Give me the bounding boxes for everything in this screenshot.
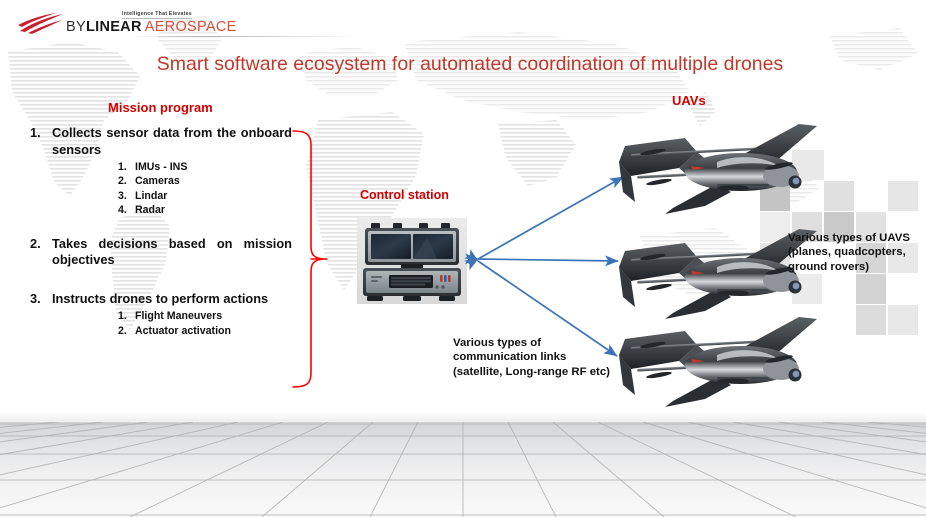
- sub-item-label: Cameras: [135, 174, 180, 188]
- sub-item-number: 1.: [118, 309, 135, 323]
- perspective-floor: [0, 422, 926, 517]
- sub-list-item: 1. Flight Maneuvers: [118, 309, 292, 323]
- red-curly-brace-icon: [292, 128, 328, 390]
- uav-drone-bottom: [613, 303, 823, 413]
- logo-tagline: Intelligence That Elevates: [122, 11, 192, 19]
- sub-item-number: 3.: [118, 189, 135, 203]
- mission-program-heading: Mission program: [108, 100, 213, 115]
- sub-item-label: Radar: [135, 203, 165, 217]
- sub-item-number: 1.: [118, 160, 135, 174]
- list-item-text: Collects sensor data from the onboard se…: [52, 125, 292, 158]
- control-station-heading: Control station: [360, 188, 449, 202]
- list-item-text: Takes decisions based on mission objecti…: [52, 236, 292, 269]
- sub-list-item: 4. Radar: [118, 203, 292, 217]
- sub-list-item: 2. Actuator activation: [118, 324, 292, 338]
- floor-horizon: [0, 413, 926, 422]
- sub-item-label: Actuator activation: [135, 324, 231, 338]
- sub-item-label: Flight Maneuvers: [135, 309, 222, 323]
- sub-item-number: 2.: [118, 174, 135, 188]
- sub-item-label: Lindar: [135, 189, 167, 203]
- logo-brand-aerospace: AEROSPACE: [145, 19, 237, 35]
- uavs-heading: UAVs: [672, 93, 706, 108]
- logo-brand-by: BY: [66, 19, 86, 35]
- list-item: 1. Collects sensor data from the onboard…: [30, 125, 292, 158]
- control-station-image: [357, 218, 467, 304]
- mission-program-list: 1. Collects sensor data from the onboard…: [30, 125, 292, 338]
- sub-list-item: 3. Lindar: [118, 189, 292, 203]
- slide-header: Intelligence That Elevates BYLINEARAEROS…: [0, 0, 926, 37]
- list-item-number: 3.: [30, 291, 52, 308]
- list-item: 2. Takes decisions based on mission obje…: [30, 236, 292, 269]
- sub-item-number: 4.: [118, 203, 135, 217]
- list-item: 3. Instructs drones to perform actions: [30, 291, 292, 308]
- caption-uav-types: Various types of UAVS (planes, quadcopte…: [788, 231, 924, 274]
- sub-item-number: 2.: [118, 324, 135, 338]
- logo-brand-linear: LINEAR: [86, 19, 142, 35]
- list-item-number: 1.: [30, 125, 52, 158]
- sub-list-item: 2. Cameras: [118, 174, 292, 188]
- sub-item-label: IMUs - INS: [135, 160, 187, 174]
- sub-list-item: 1. IMUs - INS: [118, 160, 292, 174]
- spacer: [30, 218, 292, 236]
- page-title: Smart software ecosystem for automated c…: [150, 52, 790, 77]
- caption-communication-links: Various types of communication links (sa…: [453, 336, 613, 379]
- sub-list: 1. Flight Maneuvers 2. Actuator activati…: [118, 309, 292, 338]
- company-logo[interactable]: Intelligence That Elevates BYLINEARAEROS…: [18, 4, 237, 34]
- slide-canvas: Intelligence That Elevates BYLINEARAEROS…: [0, 0, 926, 517]
- sub-list: 1. IMUs - INS 2. Cameras 3. Lindar 4. Ra…: [118, 160, 292, 218]
- header-divider: [130, 36, 360, 37]
- logo-brand: BYLINEARAEROSPACE: [66, 20, 237, 35]
- list-item-number: 2.: [30, 236, 52, 269]
- swoosh-icon: [18, 12, 64, 34]
- list-item-text: Instructs drones to perform actions: [52, 291, 292, 308]
- uav-drone-top: [613, 110, 823, 220]
- spacer: [30, 271, 292, 291]
